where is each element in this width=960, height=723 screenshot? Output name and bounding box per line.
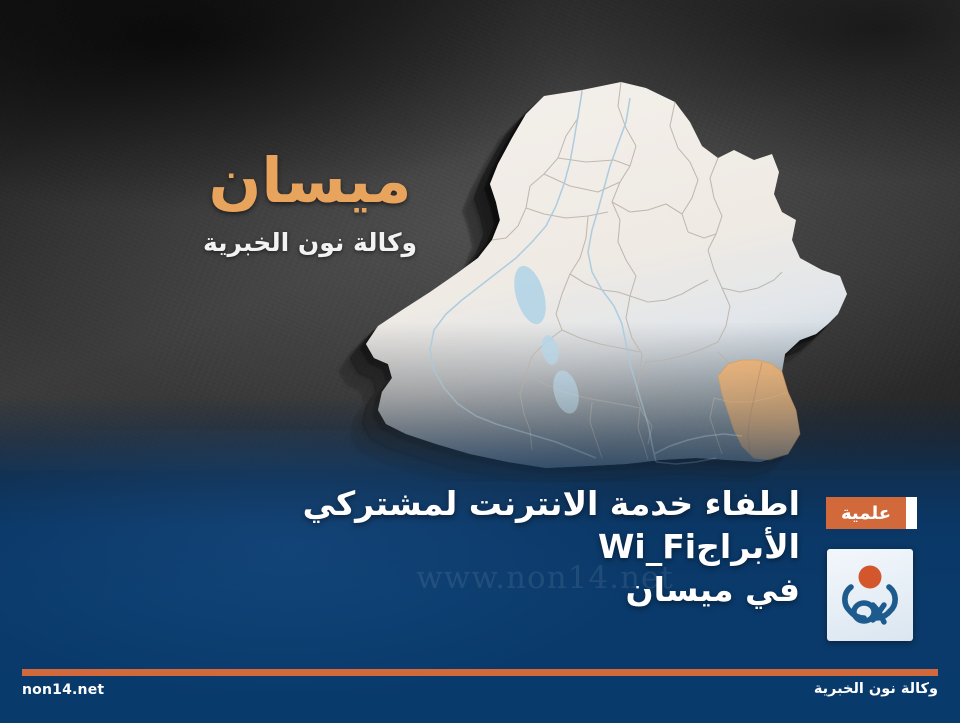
circle-head-icon: [859, 566, 882, 589]
badge-white-strip: [906, 497, 917, 529]
footer-site-url[interactable]: non14.net: [22, 682, 104, 698]
governorate-title: ميسان: [160, 150, 460, 212]
agency-logo[interactable]: [827, 549, 913, 641]
agency-name: وكالة نون الخبرية: [160, 228, 460, 257]
footer-agency-name: وكالة نون الخبرية: [814, 681, 938, 697]
headline-line1-latin: Wi_Fi: [598, 527, 696, 566]
headline: اطفاء خدمة الانترنت لمشتركي الأبراجWi_Fi…: [100, 483, 800, 612]
headline-line2: في ميسان: [625, 570, 800, 609]
footer-divider: [22, 669, 938, 676]
category-badge-row: علمية: [810, 497, 920, 529]
news-graphic-card: ميسان وكالة نون الخبرية www.non14.net اط…: [0, 0, 960, 723]
iraq-map: [330, 62, 920, 482]
category-badge[interactable]: علمية: [826, 497, 906, 529]
agency-logo-mark: [838, 560, 902, 630]
headline-line1-arabic: اطفاء خدمة الانترنت لمشتركي الأبراج: [303, 484, 800, 566]
brand-block: ميسان وكالة نون الخبرية: [160, 150, 460, 257]
